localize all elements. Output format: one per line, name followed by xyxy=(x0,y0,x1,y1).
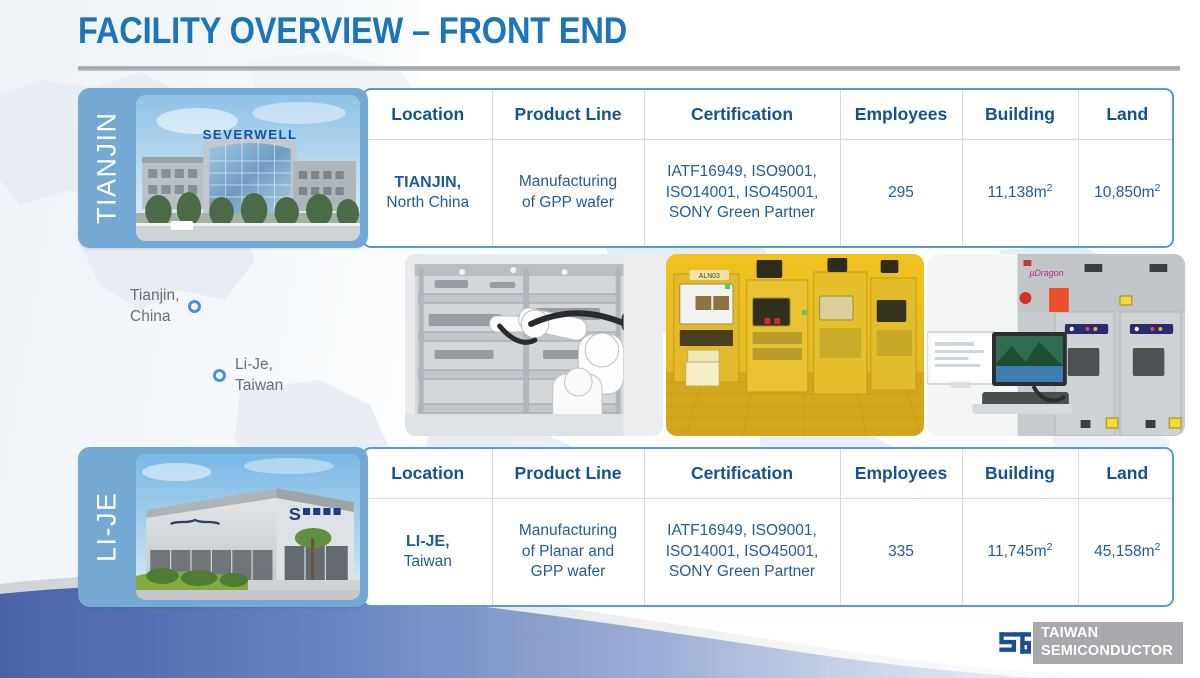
map-label-tianjin-line2: China xyxy=(130,308,171,325)
header-location: Location xyxy=(364,449,492,499)
cert-line-1: IATF16949, ISO9001, xyxy=(667,163,817,180)
cell-employees: 295 xyxy=(840,140,962,247)
logo-line-2: SEMICONDUCTOR xyxy=(1041,643,1173,661)
product-line-1: Manufacturing xyxy=(519,522,617,539)
map-label-lije: Li-Je, Taiwan xyxy=(235,355,283,397)
facility-block-lije: LI-JE xyxy=(78,447,1174,607)
building-unit-sup: 2 xyxy=(1047,182,1053,194)
facility-tag-lije: LI-JE xyxy=(78,454,136,600)
land-value: 10,850m xyxy=(1094,185,1154,202)
building-value: 11,745m xyxy=(987,544,1046,561)
facility-photo-gallery: ALN03 xyxy=(405,254,1185,436)
header-building: Building xyxy=(962,90,1078,140)
facility-tag-tianjin: TIANJIN xyxy=(78,95,136,241)
map-label-tianjin: Tianjin, China xyxy=(130,286,179,328)
land-unit-sup: 2 xyxy=(1154,182,1160,194)
location-main: LI-JE, xyxy=(370,531,486,553)
cell-land: 45,158m2 xyxy=(1078,499,1174,606)
table-header-row: Location Product Line Certification Empl… xyxy=(364,90,1174,140)
cell-certification: IATF16949, ISO9001, ISO14001, ISO45001, … xyxy=(644,140,840,247)
table-header-row: Location Product Line Certification Empl… xyxy=(364,449,1174,499)
table-row: TIANJIN, North China Manufacturing of GP… xyxy=(364,140,1174,247)
map-marker-tianjin[interactable]: Tianjin, China xyxy=(130,286,201,328)
product-line-2: of GPP wafer xyxy=(522,194,614,211)
cert-line-3: SONY Green Partner xyxy=(669,563,815,580)
location-sub: Taiwan xyxy=(370,552,486,573)
svg-text:ALN03: ALN03 xyxy=(699,273,720,280)
logo-wordmark: TAIWAN SEMICONDUCTOR xyxy=(1033,622,1183,664)
land-unit-sup: 2 xyxy=(1154,541,1160,553)
header-location: Location xyxy=(364,90,492,140)
page-title: FACILITY OVERVIEW – FRONT END xyxy=(78,10,627,52)
map-label-tianjin-line1: Tianjin, xyxy=(130,287,179,304)
facility-block-tianjin: TIANJIN xyxy=(78,88,1174,248)
cert-line-3: SONY Green Partner xyxy=(669,204,815,221)
location-main: TIANJIN, xyxy=(370,172,486,194)
cell-certification: IATF16949, ISO9001, ISO14001, ISO45001, … xyxy=(644,499,840,606)
cell-building: 11,138m2 xyxy=(962,140,1078,247)
map-pin-icon[interactable] xyxy=(213,369,226,382)
land-value: 45,158m xyxy=(1094,544,1154,561)
svg-text:S: S xyxy=(289,504,301,524)
map-label-lije-line1: Li-Je, xyxy=(235,356,273,373)
cell-land: 10,850m2 xyxy=(1078,140,1174,247)
product-line-2: of Planar and xyxy=(522,543,614,560)
cell-product-line: Manufacturing of Planar and GPP wafer xyxy=(492,499,644,606)
header-product-line: Product Line xyxy=(492,90,644,140)
cell-employees: 335 xyxy=(840,499,962,606)
cert-line-1: IATF16949, ISO9001, xyxy=(667,522,817,539)
header-employees: Employees xyxy=(840,449,962,499)
li-je-factory-photo: S xyxy=(136,454,360,600)
header-product-line: Product Line xyxy=(492,449,644,499)
spec-table-lije: Location Product Line Certification Empl… xyxy=(362,447,1174,607)
cert-line-2: ISO14001, ISO45001, xyxy=(666,543,819,560)
spec-table-tianjin: Location Product Line Certification Empl… xyxy=(362,88,1174,248)
map-pin-icon[interactable] xyxy=(188,300,201,313)
location-sub: North China xyxy=(370,193,486,214)
cert-line-2: ISO14001, ISO45001, xyxy=(666,184,819,201)
facility-photo-panel-lije: LI-JE xyxy=(78,447,368,607)
taiwan-semiconductor-mark-icon xyxy=(991,622,1033,664)
company-logo: TAIWAN SEMICONDUCTOR xyxy=(991,622,1183,664)
header-building: Building xyxy=(962,449,1078,499)
severwell-building-photo: SEVERWELL xyxy=(136,95,360,241)
facility-photo-panel-tianjin: TIANJIN xyxy=(78,88,368,248)
title-divider xyxy=(78,66,1180,71)
cell-building: 11,745m2 xyxy=(962,499,1078,606)
cell-location: TIANJIN, North China xyxy=(364,140,492,247)
cell-location: LI-JE, Taiwan xyxy=(364,499,492,606)
robotic-arm-automation-photo xyxy=(405,254,663,436)
logo-line-1: TAIWAN xyxy=(1041,625,1173,643)
header-certification: Certification xyxy=(644,449,840,499)
header-land: Land xyxy=(1078,90,1174,140)
table-row: LI-JE, Taiwan Manufacturing of Planar an… xyxy=(364,499,1174,606)
map-label-lije-line2: Taiwan xyxy=(235,377,283,394)
product-line-1: Manufacturing xyxy=(519,173,617,190)
header-certification: Certification xyxy=(644,90,840,140)
udragon-equipment-photo: µDragon xyxy=(927,254,1185,436)
cell-product-line: Manufacturing of GPP wafer xyxy=(492,140,644,247)
map-marker-lije[interactable]: Li-Je, Taiwan xyxy=(213,355,283,397)
cleanroom-fab-equipment-photo: ALN03 xyxy=(666,254,924,436)
header-land: Land xyxy=(1078,449,1174,499)
svg-text:SEVERWELL: SEVERWELL xyxy=(203,127,298,142)
building-value: 11,138m xyxy=(987,185,1046,202)
building-unit-sup: 2 xyxy=(1047,541,1053,553)
header-employees: Employees xyxy=(840,90,962,140)
product-line-3: GPP wafer xyxy=(531,563,606,580)
svg-text:µDragon: µDragon xyxy=(1029,268,1063,278)
